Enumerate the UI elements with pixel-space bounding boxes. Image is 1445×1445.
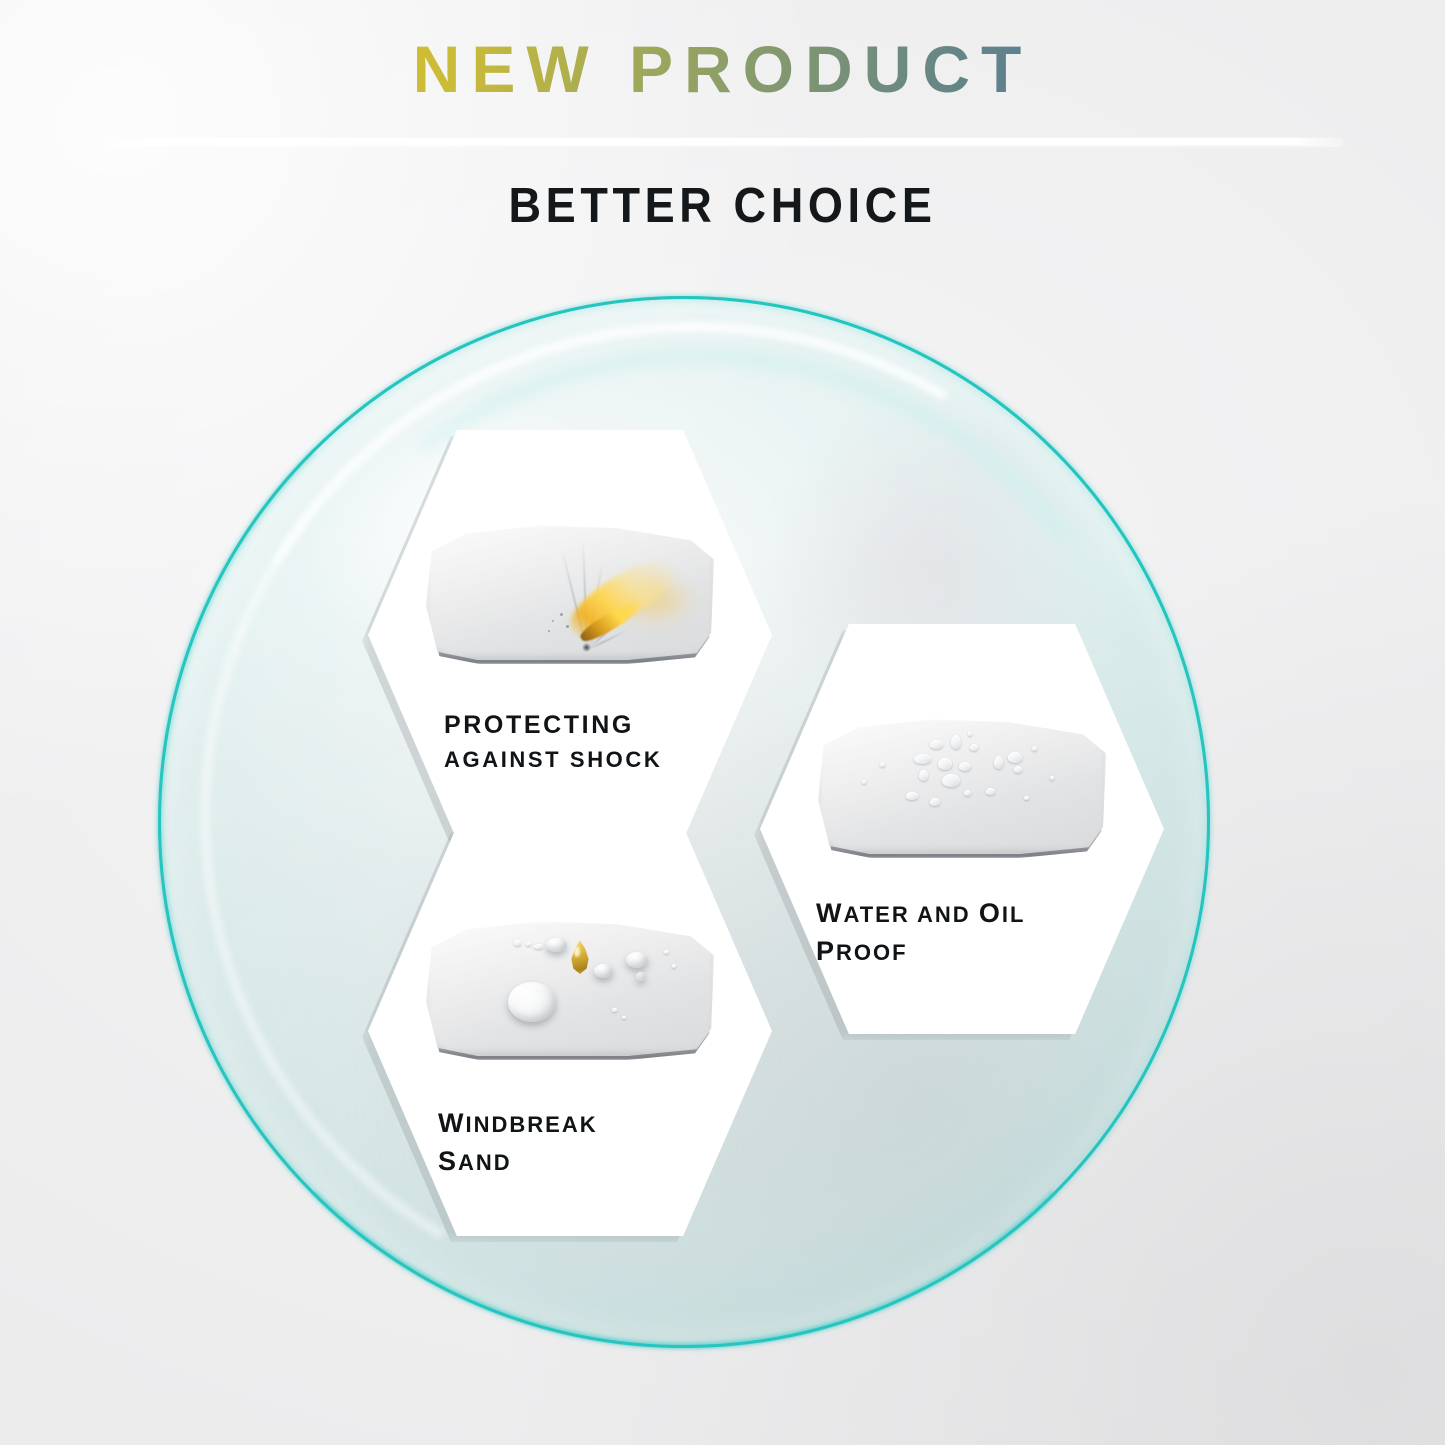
caption-rest: GAINST SHOCK (463, 747, 663, 772)
page-subtitle: BETTER CHOICE (58, 178, 1387, 234)
caption-lead-letter-2: O (979, 898, 1002, 928)
caption-lead-letter: S (438, 1146, 458, 1176)
lens-with-spark-icon (368, 486, 772, 698)
caption-rest: AND (458, 1150, 512, 1175)
caption-lead-letter: W (438, 1108, 465, 1138)
feature-caption-water: WATER AND OIL PROOF (760, 894, 1164, 971)
caption-rest-2: IL (1002, 902, 1026, 927)
droplet-group (426, 920, 714, 1056)
lens-body (426, 524, 714, 660)
lens-with-water-droplets-icon (760, 680, 1164, 892)
feature-caption-shock: PROTECTING AGAINST SHOCK (368, 708, 772, 775)
oil-droplet (568, 940, 592, 974)
lens-with-oil-droplet-icon (368, 882, 772, 1094)
feature-caption-wind: WINDBREAK SAND (368, 1104, 772, 1181)
caption-rest: ROOF (836, 940, 908, 965)
water-droplet-group (818, 718, 1106, 854)
caption-rest: ROTECTING (463, 711, 634, 739)
caption-lead-letter: W (816, 898, 843, 928)
caption-lead-letter: P (816, 936, 836, 966)
caption-rest: ATER AND (843, 902, 978, 927)
page-title: NEW PRODUCT (0, 36, 1445, 102)
header-divider (104, 138, 1342, 145)
caption-lead-letter: P (444, 711, 463, 739)
caption-rest: INDBREAK (465, 1112, 597, 1137)
caption-lead-letter: A (444, 747, 463, 772)
product-banner: NEW PRODUCT BETTER CHOICE (0, 0, 1445, 1445)
